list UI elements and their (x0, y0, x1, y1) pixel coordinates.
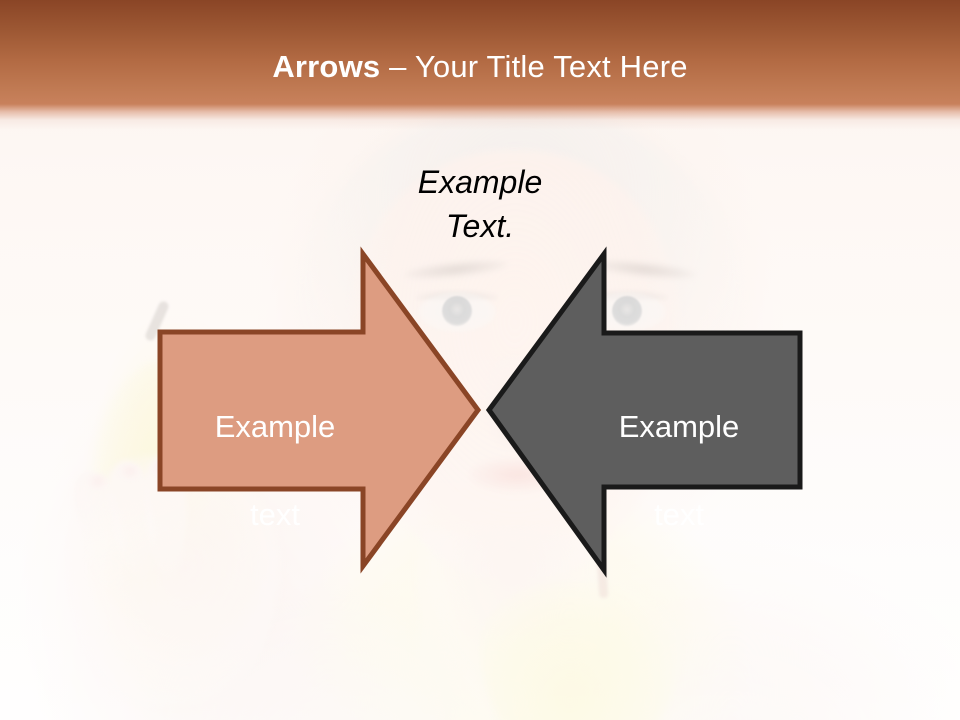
left-arrow-label: Example text (168, 361, 382, 581)
left-arrow-label-line-2: text (168, 493, 382, 537)
arrows-group (0, 0, 960, 720)
left-arrow-label-line-1: Example (168, 405, 382, 449)
right-arrow-label-line-1: Example (572, 405, 786, 449)
right-arrow-label-line-2: text (572, 493, 786, 537)
slide-canvas: Arrows – Your Title Text Here Example Te… (0, 0, 960, 720)
right-arrow-label: Example text (572, 361, 786, 581)
